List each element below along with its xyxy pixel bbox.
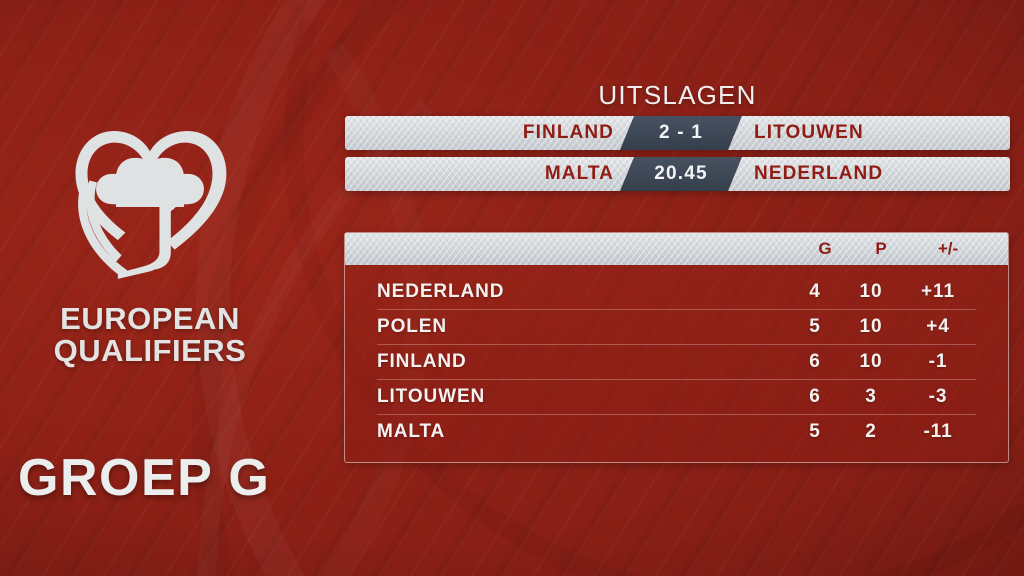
fixture-row[interactable]: FINLAND 2 - 1 LITOUWEN — [345, 116, 1010, 150]
row-team-name: LITOUWEN — [377, 386, 788, 408]
row-points: 10 — [842, 316, 900, 338]
fixture-away-team: NEDERLAND — [728, 157, 1010, 191]
table-row[interactable]: FINLAND 6 10 -1 — [377, 345, 976, 380]
row-goal-difference: +4 — [900, 316, 976, 338]
row-games-played: 5 — [788, 316, 842, 338]
table-row[interactable]: NEDERLAND 4 10 +11 — [377, 275, 976, 310]
logo-wordmark-line2: QUALIFIERS — [0, 335, 300, 367]
row-goal-difference: -3 — [900, 386, 976, 408]
row-points: 2 — [842, 421, 900, 443]
row-goal-difference: +11 — [900, 281, 976, 303]
fixture-score: 2 - 1 — [620, 116, 742, 150]
table-row[interactable]: LITOUWEN 6 3 -3 — [377, 380, 976, 415]
fixture-row[interactable]: MALTA 20.45 NEDERLAND — [345, 157, 1010, 191]
row-goal-difference: -1 — [900, 351, 976, 373]
row-games-played: 6 — [788, 351, 842, 373]
fixture-home-team: MALTA — [345, 157, 640, 191]
row-points: 3 — [842, 386, 900, 408]
standings-body: NEDERLAND 4 10 +11 POLEN 5 10 +4 FINLAND… — [345, 265, 1008, 449]
column-header-goal-difference: +/- — [910, 239, 986, 259]
row-games-played: 6 — [788, 386, 842, 408]
row-points: 10 — [842, 351, 900, 373]
row-games-played: 4 — [788, 281, 842, 303]
logo-wordmark: EUROPEAN QUALIFIERS — [0, 303, 300, 367]
fixture-score: 20.45 — [620, 157, 742, 191]
standings-header-row: G P +/- — [345, 233, 1008, 265]
row-goal-difference: -11 — [900, 421, 976, 443]
group-label: GROEP G — [18, 448, 270, 508]
row-points: 10 — [842, 281, 900, 303]
row-team-name: POLEN — [377, 316, 788, 338]
row-team-name: FINLAND — [377, 351, 788, 373]
row-team-name: MALTA — [377, 421, 788, 443]
fixture-away-team: LITOUWEN — [728, 116, 1010, 150]
table-row[interactable]: POLEN 5 10 +4 — [377, 310, 976, 345]
european-qualifiers-heart-trophy-logo — [55, 120, 245, 295]
column-header-g: G — [798, 239, 852, 259]
row-team-name: NEDERLAND — [377, 281, 788, 303]
standings-table: G P +/- NEDERLAND 4 10 +11 POLEN 5 10 +4… — [344, 232, 1009, 463]
row-games-played: 5 — [788, 421, 842, 443]
table-row[interactable]: MALTA 5 2 -11 — [377, 415, 976, 449]
brand-block: EUROPEAN QUALIFIERS — [0, 120, 300, 367]
fixture-home-team: FINLAND — [345, 116, 640, 150]
column-header-p: P — [852, 239, 910, 259]
logo-wordmark-line1: EUROPEAN — [0, 303, 300, 335]
results-title: UITSLAGEN — [345, 80, 1010, 111]
